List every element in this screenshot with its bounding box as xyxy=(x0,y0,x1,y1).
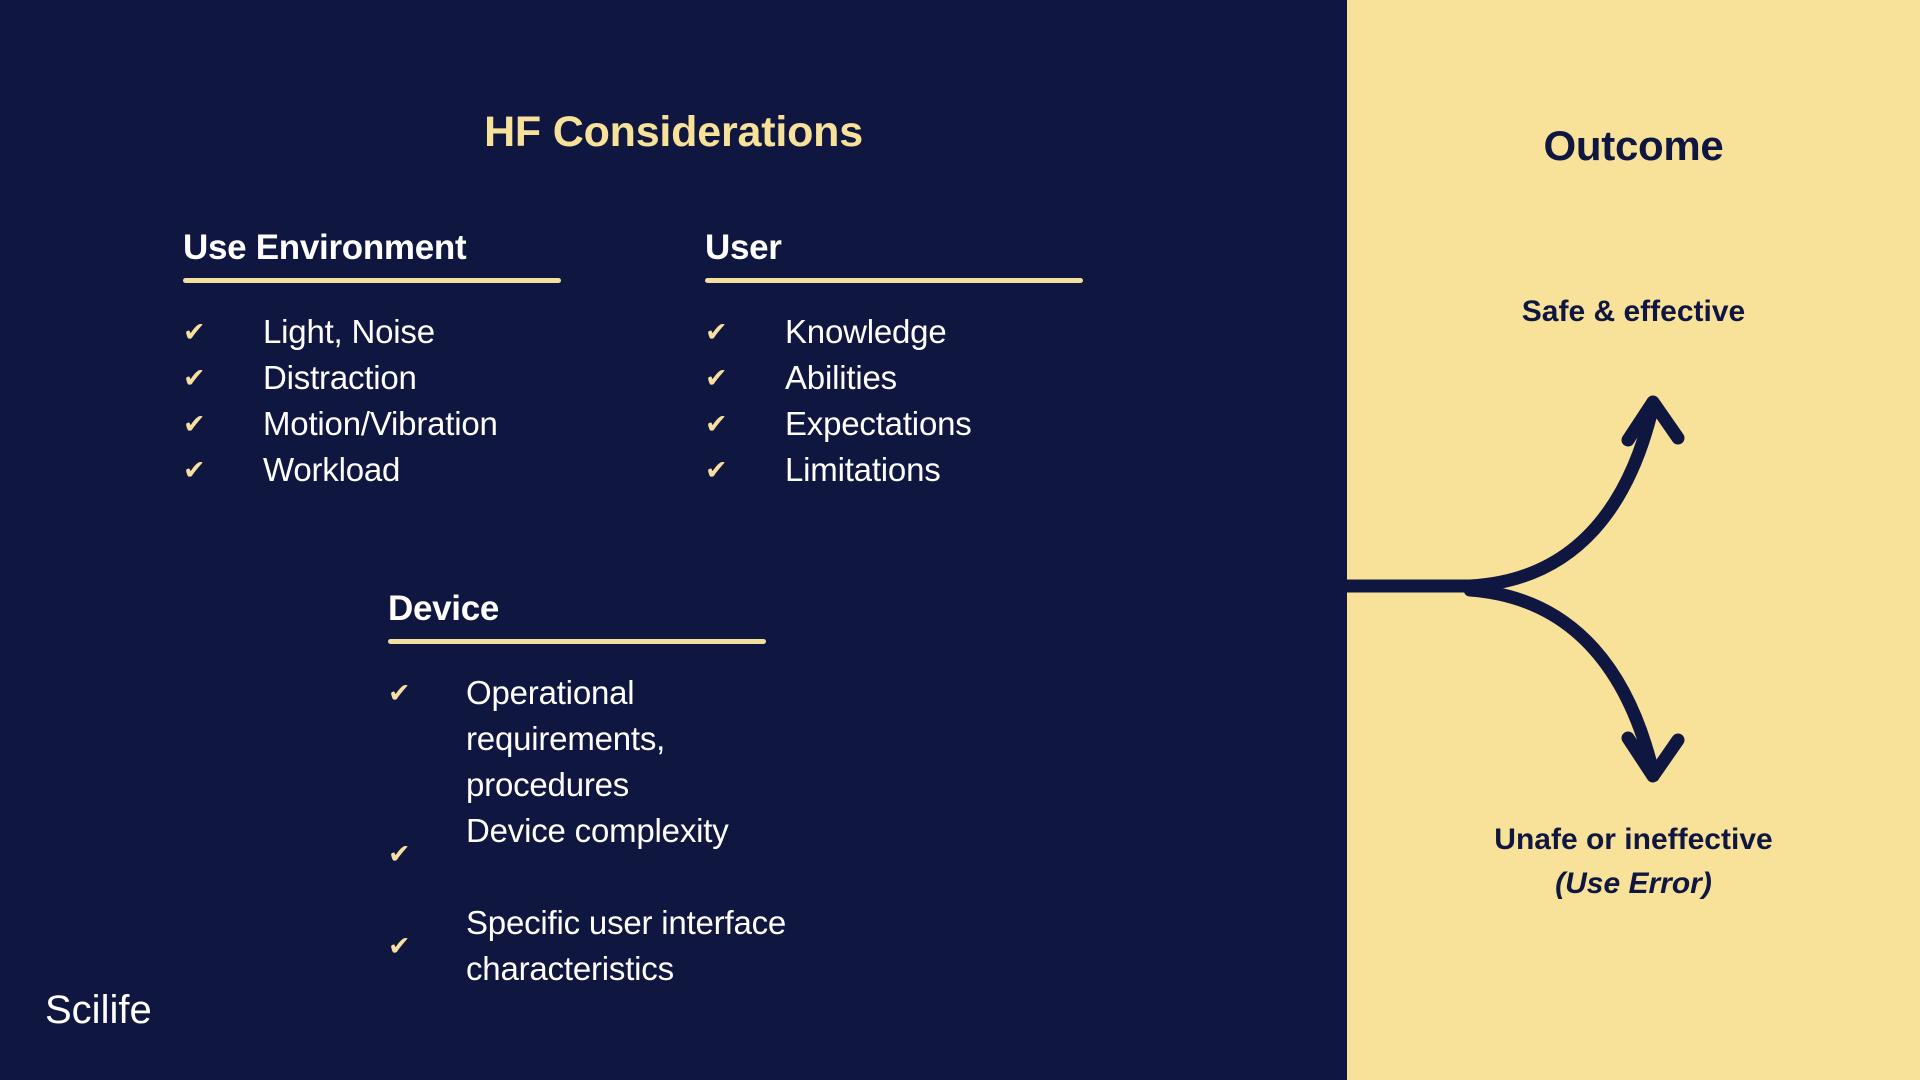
list-item: ✔ Operational requirements, procedures xyxy=(388,670,788,808)
list-item: ✔ Light, Noise xyxy=(183,309,568,355)
scilife-logo: Scilife xyxy=(45,988,152,1033)
check-icon: ✔ xyxy=(388,808,466,900)
section-heading-use-environment: Use Environment xyxy=(183,228,568,268)
check-icon: ✔ xyxy=(705,401,785,447)
list-item-label: Light, Noise xyxy=(263,309,568,355)
device-list: ✔ Operational requirements, procedures ✔… xyxy=(388,670,788,992)
section-use-environment: Use Environment ✔ Light, Noise ✔ Distrac… xyxy=(183,228,568,493)
hf-considerations-panel: HF Considerations Use Environment ✔ Ligh… xyxy=(0,0,1347,1080)
list-item-label: Specific user interface characteristics xyxy=(466,900,788,992)
check-icon: ✔ xyxy=(183,401,263,447)
section-underline xyxy=(705,278,1083,283)
list-item-label: Operational requirements, procedures xyxy=(466,670,788,808)
list-item: ✔ Expectations xyxy=(705,401,1090,447)
user-list: ✔ Knowledge ✔ Abilities ✔ Expectations ✔… xyxy=(705,309,1090,493)
list-item-label: Motion/Vibration xyxy=(263,401,568,447)
section-heading-user: User xyxy=(705,228,1090,268)
section-device: Device ✔ Operational requirements, proce… xyxy=(388,589,788,992)
outcome-fork-arrows xyxy=(1330,0,1730,1080)
check-icon: ✔ xyxy=(183,355,263,401)
list-item: ✔ Knowledge xyxy=(705,309,1090,355)
list-item: ✔ Distraction xyxy=(183,355,568,401)
list-item: ✔ Motion/Vibration xyxy=(183,401,568,447)
check-icon: ✔ xyxy=(705,355,785,401)
section-user: User ✔ Knowledge ✔ Abilities ✔ Expectati… xyxy=(705,228,1090,493)
check-icon: ✔ xyxy=(183,309,263,355)
check-icon: ✔ xyxy=(705,309,785,355)
list-item: ✔ Workload xyxy=(183,447,568,493)
list-item: ✔ Limitations xyxy=(705,447,1090,493)
list-item: ✔ Abilities xyxy=(705,355,1090,401)
check-icon: ✔ xyxy=(705,447,785,493)
use-environment-list: ✔ Light, Noise ✔ Distraction ✔ Motion/Vi… xyxy=(183,309,568,493)
check-icon: ✔ xyxy=(388,900,466,992)
section-underline xyxy=(183,278,561,283)
section-heading-device: Device xyxy=(388,589,788,629)
list-item-label: Distraction xyxy=(263,355,568,401)
check-icon: ✔ xyxy=(183,447,263,493)
slide-canvas: HF Considerations Use Environment ✔ Ligh… xyxy=(0,0,1920,1080)
list-item-label: Workload xyxy=(263,447,568,493)
list-item-label: Abilities xyxy=(785,355,1090,401)
list-item: ✔ Device complexity xyxy=(388,808,788,900)
list-item-label: Device complexity xyxy=(466,808,788,854)
check-icon: ✔ xyxy=(388,670,466,716)
hf-considerations-title: HF Considerations xyxy=(0,108,1347,157)
list-item: ✔ Specific user interface characteristic… xyxy=(388,900,788,992)
list-item-label: Expectations xyxy=(785,401,1090,447)
list-item-label: Limitations xyxy=(785,447,1090,493)
section-underline xyxy=(388,639,766,644)
list-item-label: Knowledge xyxy=(785,309,1090,355)
